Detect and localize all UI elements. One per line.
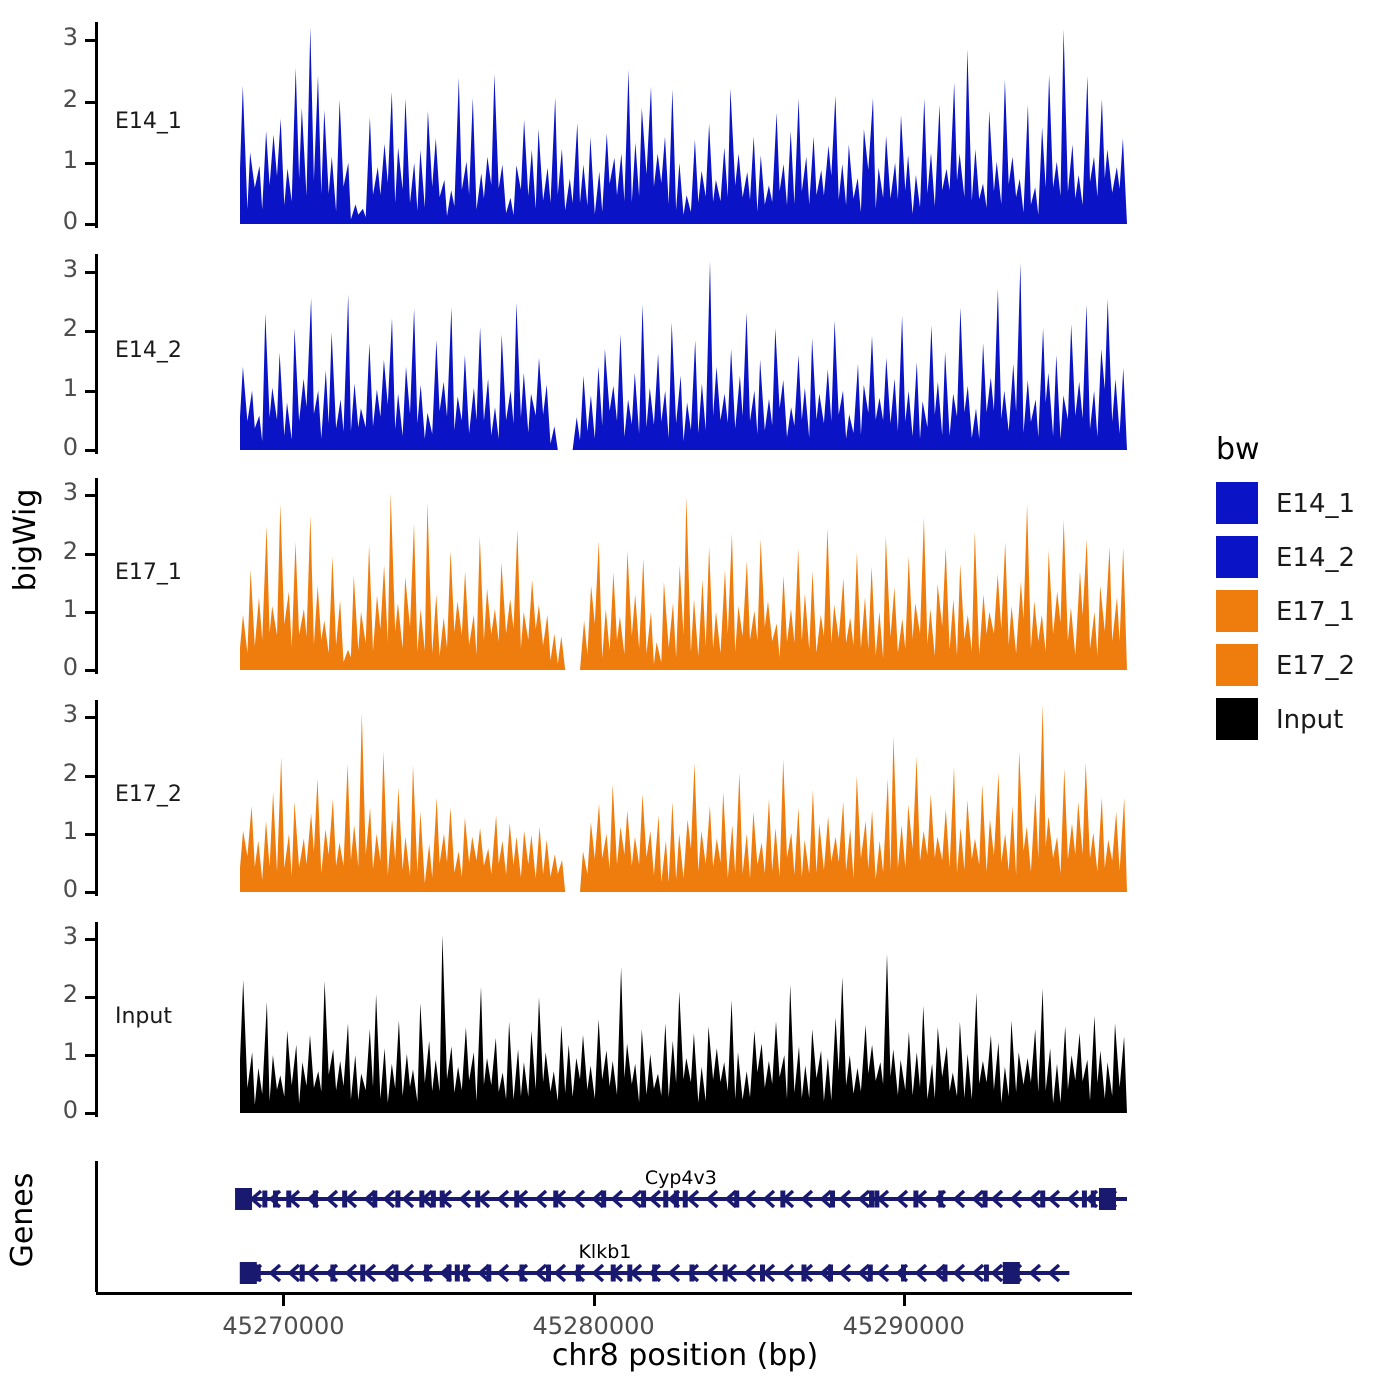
legend-label-Input: Input bbox=[1276, 705, 1343, 735]
panel-E17_2-y-spine bbox=[95, 700, 98, 896]
y-tick-mark bbox=[85, 1054, 95, 1057]
y-tick-label: 3 bbox=[20, 700, 78, 728]
y-tick-mark bbox=[85, 669, 95, 672]
panel-Input-y-spine bbox=[95, 922, 98, 1117]
track-label-E17_1: E17_1 bbox=[115, 560, 182, 585]
y-tick-label: 3 bbox=[20, 23, 78, 51]
genome-browser-figure: bigWig chr8 position (bp) Genes 0123E14_… bbox=[0, 0, 1400, 1400]
legend-swatch-E17_1[interactable] bbox=[1216, 590, 1258, 632]
y-tick-label: 2 bbox=[20, 980, 78, 1008]
y-tick-mark bbox=[85, 162, 95, 165]
track-label-E14_2: E14_2 bbox=[115, 338, 182, 363]
y-tick-label: 1 bbox=[20, 1038, 78, 1066]
y-tick-mark bbox=[85, 101, 95, 104]
signal-track-E17_2 bbox=[0, 0, 1400, 1400]
y-tick-label: 1 bbox=[20, 374, 78, 402]
gene-label-Cyp4v3: Cyp4v3 bbox=[645, 1167, 717, 1189]
y-tick-mark bbox=[85, 996, 95, 999]
x-tick-mark bbox=[903, 1295, 906, 1306]
signal-track-Input bbox=[0, 0, 1400, 1400]
genes-axis-title: Genes bbox=[5, 1140, 40, 1300]
y-tick-mark bbox=[85, 1112, 95, 1115]
y-tick-mark bbox=[85, 553, 95, 556]
panel-E14_2-y-spine bbox=[95, 254, 98, 454]
y-tick-mark bbox=[85, 494, 95, 497]
y-tick-mark bbox=[85, 611, 95, 614]
legend-swatch-Input[interactable] bbox=[1216, 698, 1258, 740]
y-tick-label: 2 bbox=[20, 314, 78, 342]
panel-E17_1-y-spine bbox=[95, 478, 98, 674]
genes-axis-spine bbox=[95, 1161, 98, 1292]
y-tick-label: 2 bbox=[20, 759, 78, 787]
y-tick-label: 0 bbox=[20, 433, 78, 461]
x-axis-line bbox=[96, 1292, 1132, 1295]
track-label-E14_1: E14_1 bbox=[115, 109, 182, 134]
gene-models-svg bbox=[0, 0, 1400, 1400]
y-tick-mark bbox=[85, 271, 95, 274]
panel-E14_1-y-spine bbox=[95, 22, 98, 228]
x-tick-mark bbox=[282, 1295, 285, 1306]
signal-track-E14_1 bbox=[0, 0, 1400, 1400]
signal-track-E17_1 bbox=[0, 0, 1400, 1400]
x-tick-label: 45290000 bbox=[843, 1312, 965, 1340]
gene-label-Klkb1: Klkb1 bbox=[578, 1241, 631, 1263]
y-tick-mark bbox=[85, 938, 95, 941]
y-tick-mark bbox=[85, 449, 95, 452]
y-tick-label: 0 bbox=[20, 207, 78, 235]
y-tick-mark bbox=[85, 39, 95, 42]
signal-track-E14_2 bbox=[0, 0, 1400, 1400]
y-tick-label: 2 bbox=[20, 85, 78, 113]
y-tick-mark bbox=[85, 390, 95, 393]
y-tick-label: 0 bbox=[20, 875, 78, 903]
track-label-Input: Input bbox=[115, 1004, 172, 1029]
legend-label-E14_2: E14_2 bbox=[1276, 543, 1355, 573]
y-tick-mark bbox=[85, 891, 95, 894]
y-tick-label: 2 bbox=[20, 537, 78, 565]
legend-label-E17_1: E17_1 bbox=[1276, 597, 1355, 627]
legend-swatch-E17_2[interactable] bbox=[1216, 644, 1258, 686]
legend-label-E17_2: E17_2 bbox=[1276, 651, 1355, 681]
x-tick-mark bbox=[593, 1295, 596, 1306]
legend-title: bw bbox=[1216, 432, 1260, 467]
legend-swatch-E14_1[interactable] bbox=[1216, 482, 1258, 524]
x-tick-label: 45280000 bbox=[532, 1312, 654, 1340]
x-axis-title: chr8 position (bp) bbox=[240, 1338, 1130, 1373]
y-tick-label: 0 bbox=[20, 653, 78, 681]
y-tick-mark bbox=[85, 330, 95, 333]
y-tick-label: 1 bbox=[20, 595, 78, 623]
y-tick-label: 3 bbox=[20, 922, 78, 950]
y-tick-mark bbox=[85, 716, 95, 719]
y-tick-label: 3 bbox=[20, 255, 78, 283]
y-tick-mark bbox=[85, 223, 95, 226]
y-tick-label: 1 bbox=[20, 146, 78, 174]
track-label-E17_2: E17_2 bbox=[115, 782, 182, 807]
y-tick-label: 1 bbox=[20, 817, 78, 845]
y-tick-mark bbox=[85, 775, 95, 778]
x-tick-label: 45270000 bbox=[222, 1312, 344, 1340]
y-tick-mark bbox=[85, 833, 95, 836]
y-tick-label: 0 bbox=[20, 1096, 78, 1124]
legend-swatch-E14_2[interactable] bbox=[1216, 536, 1258, 578]
y-tick-label: 3 bbox=[20, 478, 78, 506]
legend-label-E14_1: E14_1 bbox=[1276, 489, 1355, 519]
